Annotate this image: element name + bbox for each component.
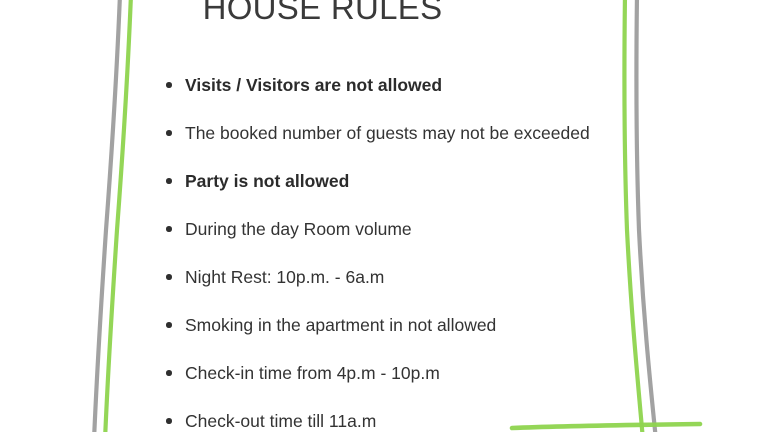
rule-text: During the day Room volume (185, 216, 412, 242)
rule-text: Night Rest: 10p.m. - 6a.m (185, 264, 384, 290)
border-right-gray-line (636, 0, 656, 432)
house-rules-poster: HOUSE RULES Visits / Visitors are not al… (0, 0, 768, 432)
list-item: Check-out time till 11a.m (160, 408, 630, 432)
list-item: Check-in time from 4p.m - 10p.m (160, 360, 630, 408)
rule-text: Check-out time till 11a.m (185, 408, 376, 432)
border-left-gray-line (94, 0, 120, 432)
rule-text: The booked number of guests may not be e… (185, 120, 590, 146)
rule-text: Visits / Visitors are not allowed (185, 72, 442, 98)
list-item: During the day Room volume (160, 216, 630, 264)
bullet-dot-icon (166, 82, 172, 88)
list-item: Party is not allowed (160, 168, 630, 216)
bullet-dot-icon (166, 370, 172, 376)
list-item: Visits / Visitors are not allowed (160, 72, 630, 120)
border-left-green-line (105, 0, 131, 432)
rule-text: Party is not allowed (185, 168, 349, 194)
list-item: Night Rest: 10p.m. - 6a.m (160, 264, 630, 312)
house-rules-list: Visits / Visitors are not allowed The bo… (160, 72, 630, 432)
rule-text: Check-in time from 4p.m - 10p.m (185, 360, 440, 386)
rule-text: Smoking in the apartment in not allowed (185, 312, 496, 338)
page-title: HOUSE RULES (0, 0, 645, 27)
list-item: Smoking in the apartment in not allowed (160, 312, 630, 360)
bullet-dot-icon (166, 418, 172, 424)
list-item: The booked number of guests may not be e… (160, 120, 630, 168)
bullet-dot-icon (166, 322, 172, 328)
bullet-dot-icon (166, 178, 172, 184)
bullet-dot-icon (166, 226, 172, 232)
bullet-dot-icon (166, 130, 172, 136)
bullet-dot-icon (166, 274, 172, 280)
